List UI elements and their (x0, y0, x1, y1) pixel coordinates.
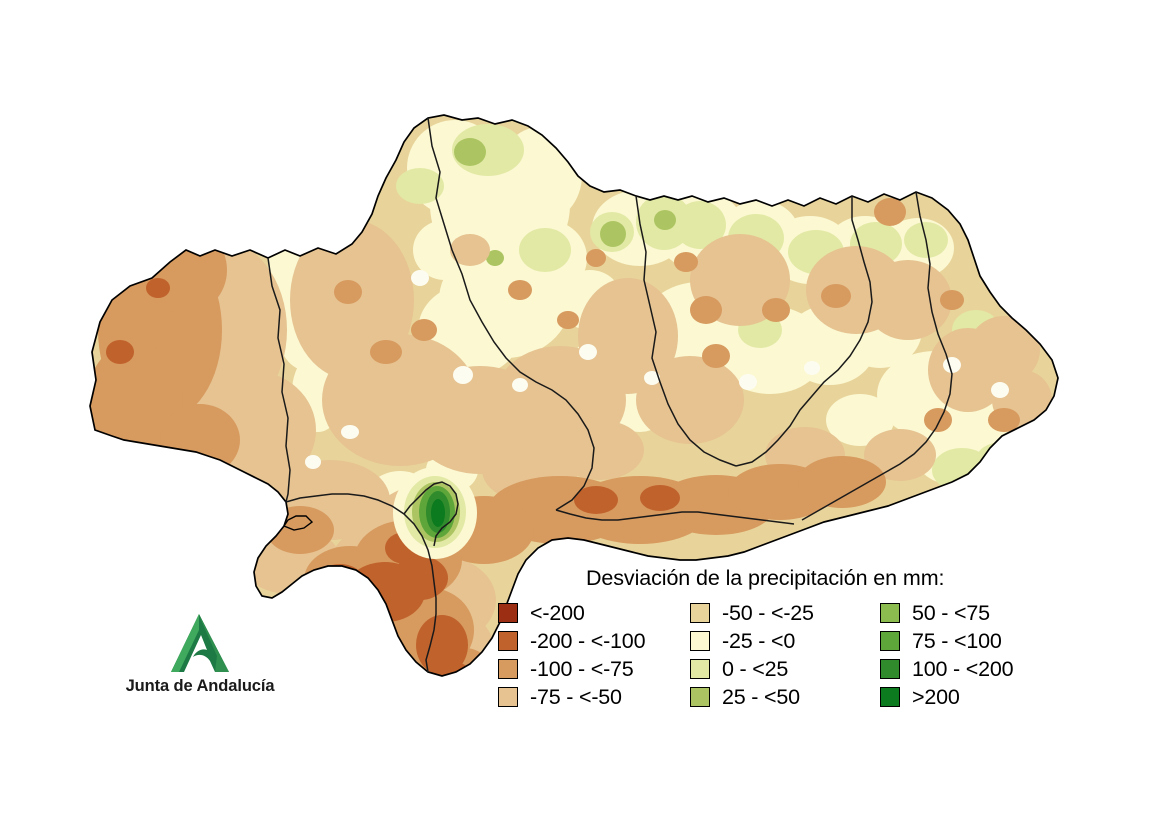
map-legend: Desviación de la precipitación en mm: <-… (498, 566, 1058, 711)
legend-label: 25 - <50 (722, 685, 800, 710)
legend-swatch-50-25 (690, 603, 710, 623)
legend-column-positive: 50 - <75 75 - <100 100 - <200 >200 (880, 599, 1055, 711)
legend-swatch-0-25 (690, 659, 710, 679)
legend-swatch-75-50 (498, 687, 518, 707)
legend-item[interactable]: -50 - <-25 (690, 599, 880, 627)
legend-item[interactable]: 0 - <25 (690, 655, 880, 683)
legend-label: -200 - <-100 (530, 629, 645, 654)
legend-label: -50 - <-25 (722, 601, 814, 626)
legend-label: <-200 (530, 601, 585, 626)
legend-item[interactable]: 25 - <50 (690, 683, 880, 711)
legend-label: -100 - <-75 (530, 657, 634, 682)
legend-swatch-25-0 (690, 631, 710, 651)
legend-swatch-100-200 (880, 659, 900, 679)
legend-label: >200 (912, 685, 960, 710)
logo-caption: Junta de Andalucía (110, 677, 290, 696)
junta-de-andalucia-logo: Junta de Andalucía (110, 612, 290, 696)
legend-label: 50 - <75 (912, 601, 990, 626)
legend-columns: <-200 -200 - <-100 -100 - <-75 -75 - <-5… (498, 599, 1058, 711)
legend-swatch-25-50 (690, 687, 710, 707)
legend-item[interactable]: -200 - <-100 (498, 627, 690, 655)
legend-item[interactable]: -100 - <-75 (498, 655, 690, 683)
legend-swatch-100-75 (498, 659, 518, 679)
legend-label: 0 - <25 (722, 657, 788, 682)
legend-swatch-75-100 (880, 631, 900, 651)
legend-swatch-50-75 (880, 603, 900, 623)
legend-item[interactable]: 100 - <200 (880, 655, 1055, 683)
legend-label: 75 - <100 (912, 629, 1002, 654)
legend-label: -75 - <-50 (530, 685, 622, 710)
legend-item[interactable]: -25 - <0 (690, 627, 880, 655)
legend-item[interactable]: >200 (880, 683, 1055, 711)
legend-item[interactable]: -75 - <-50 (498, 683, 690, 711)
precipitation-deviation-map-page: Junta de Andalucía Desviación de la prec… (0, 0, 1169, 826)
junta-a-mark-icon (161, 612, 239, 674)
legend-item[interactable]: <-200 (498, 599, 690, 627)
legend-swatch-200-100 (498, 631, 518, 651)
legend-label: 100 - <200 (912, 657, 1013, 682)
legend-swatch-lt-200 (498, 603, 518, 623)
legend-label: -25 - <0 (722, 629, 795, 654)
legend-item[interactable]: 75 - <100 (880, 627, 1055, 655)
legend-column-mid: -50 - <-25 -25 - <0 0 - <25 25 - <50 (690, 599, 880, 711)
legend-swatch-gt-200 (880, 687, 900, 707)
legend-item[interactable]: 50 - <75 (880, 599, 1055, 627)
legend-title: Desviación de la precipitación en mm: (586, 566, 1058, 591)
legend-column-negative-strong: <-200 -200 - <-100 -100 - <-75 -75 - <-5… (498, 599, 690, 711)
